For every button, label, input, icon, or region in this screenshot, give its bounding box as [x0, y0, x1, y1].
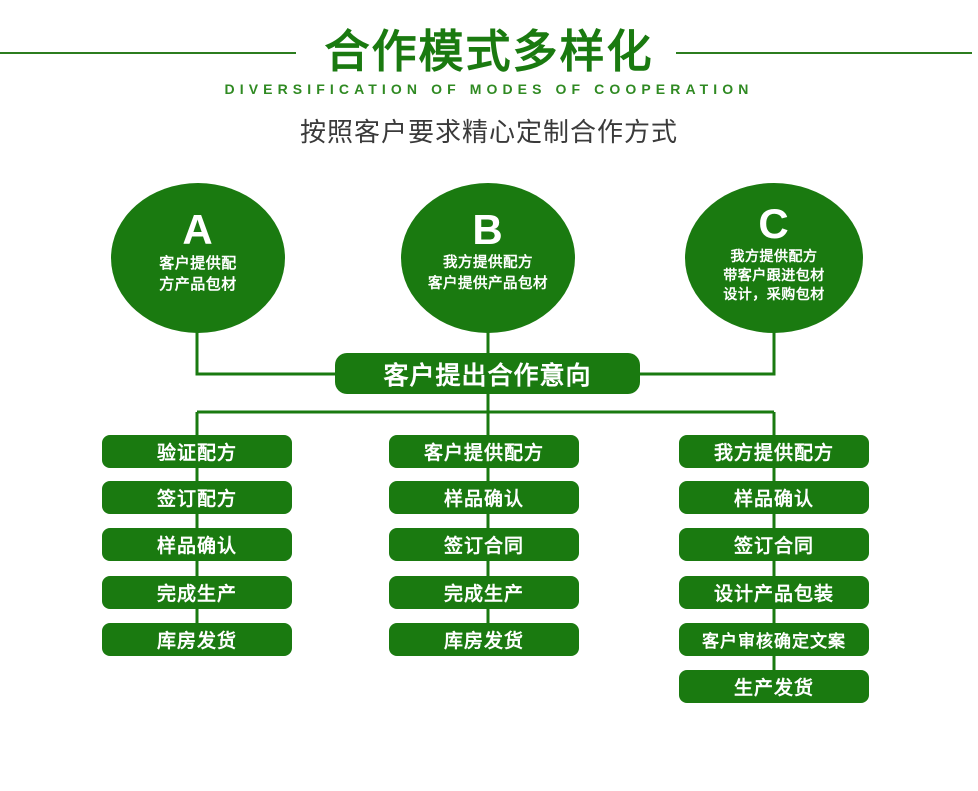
step-b-4[interactable]: 完成生产	[389, 576, 579, 609]
option-a-letter: A	[111, 207, 285, 253]
option-circle-c[interactable]: C 我方提供配方 带客户跟进包材 设计，采购包材	[685, 183, 863, 333]
step-c-3[interactable]: 签订合同	[679, 528, 869, 561]
page-title: 合作模式多样化	[0, 26, 978, 78]
step-a-1[interactable]: 验证配方	[102, 435, 292, 468]
option-c-letter: C	[685, 201, 863, 247]
root-node[interactable]: 客户提出合作意向	[335, 353, 640, 394]
page-title-english: DIVERSIFICATION OF MODES OF COOPERATION	[0, 80, 978, 98]
option-b-line-2: 客户提供产品包材	[401, 274, 575, 295]
connector-circle-a-to-root	[197, 330, 340, 374]
page-subtitle: 按照客户要求精心定制合作方式	[0, 115, 978, 149]
option-c-line-2: 带客户跟进包材	[685, 266, 863, 285]
option-b-line-1: 我方提供配方	[401, 253, 575, 274]
step-c-4[interactable]: 设计产品包装	[679, 576, 869, 609]
step-a-3[interactable]: 样品确认	[102, 528, 292, 561]
option-b-letter: B	[401, 207, 575, 253]
option-a-line-2: 方产品包材	[111, 274, 285, 295]
step-c-6[interactable]: 生产发货	[679, 670, 869, 703]
step-b-5[interactable]: 库房发货	[389, 623, 579, 656]
step-c-2[interactable]: 样品确认	[679, 481, 869, 514]
step-c-1[interactable]: 我方提供配方	[679, 435, 869, 468]
connector-circle-c-to-root	[637, 330, 774, 374]
step-a-2[interactable]: 签订配方	[102, 481, 292, 514]
step-a-4[interactable]: 完成生产	[102, 576, 292, 609]
page-header: 合作模式多样化 DIVERSIFICATION OF MODES OF COOP…	[0, 0, 978, 160]
diagram-canvas: 合作模式多样化 DIVERSIFICATION OF MODES OF COOP…	[0, 0, 978, 791]
step-c-5[interactable]: 客户审核确定文案	[679, 623, 869, 656]
step-a-5[interactable]: 库房发货	[102, 623, 292, 656]
step-b-1[interactable]: 客户提供配方	[389, 435, 579, 468]
option-circle-b[interactable]: B 我方提供配方 客户提供产品包材	[401, 183, 575, 333]
option-c-line-3: 设计，采购包材	[685, 285, 863, 304]
option-c-line-1: 我方提供配方	[685, 247, 863, 266]
option-a-line-1: 客户提供配	[111, 253, 285, 274]
step-b-3[interactable]: 签订合同	[389, 528, 579, 561]
step-b-2[interactable]: 样品确认	[389, 481, 579, 514]
option-circle-a[interactable]: A 客户提供配 方产品包材	[111, 183, 285, 333]
